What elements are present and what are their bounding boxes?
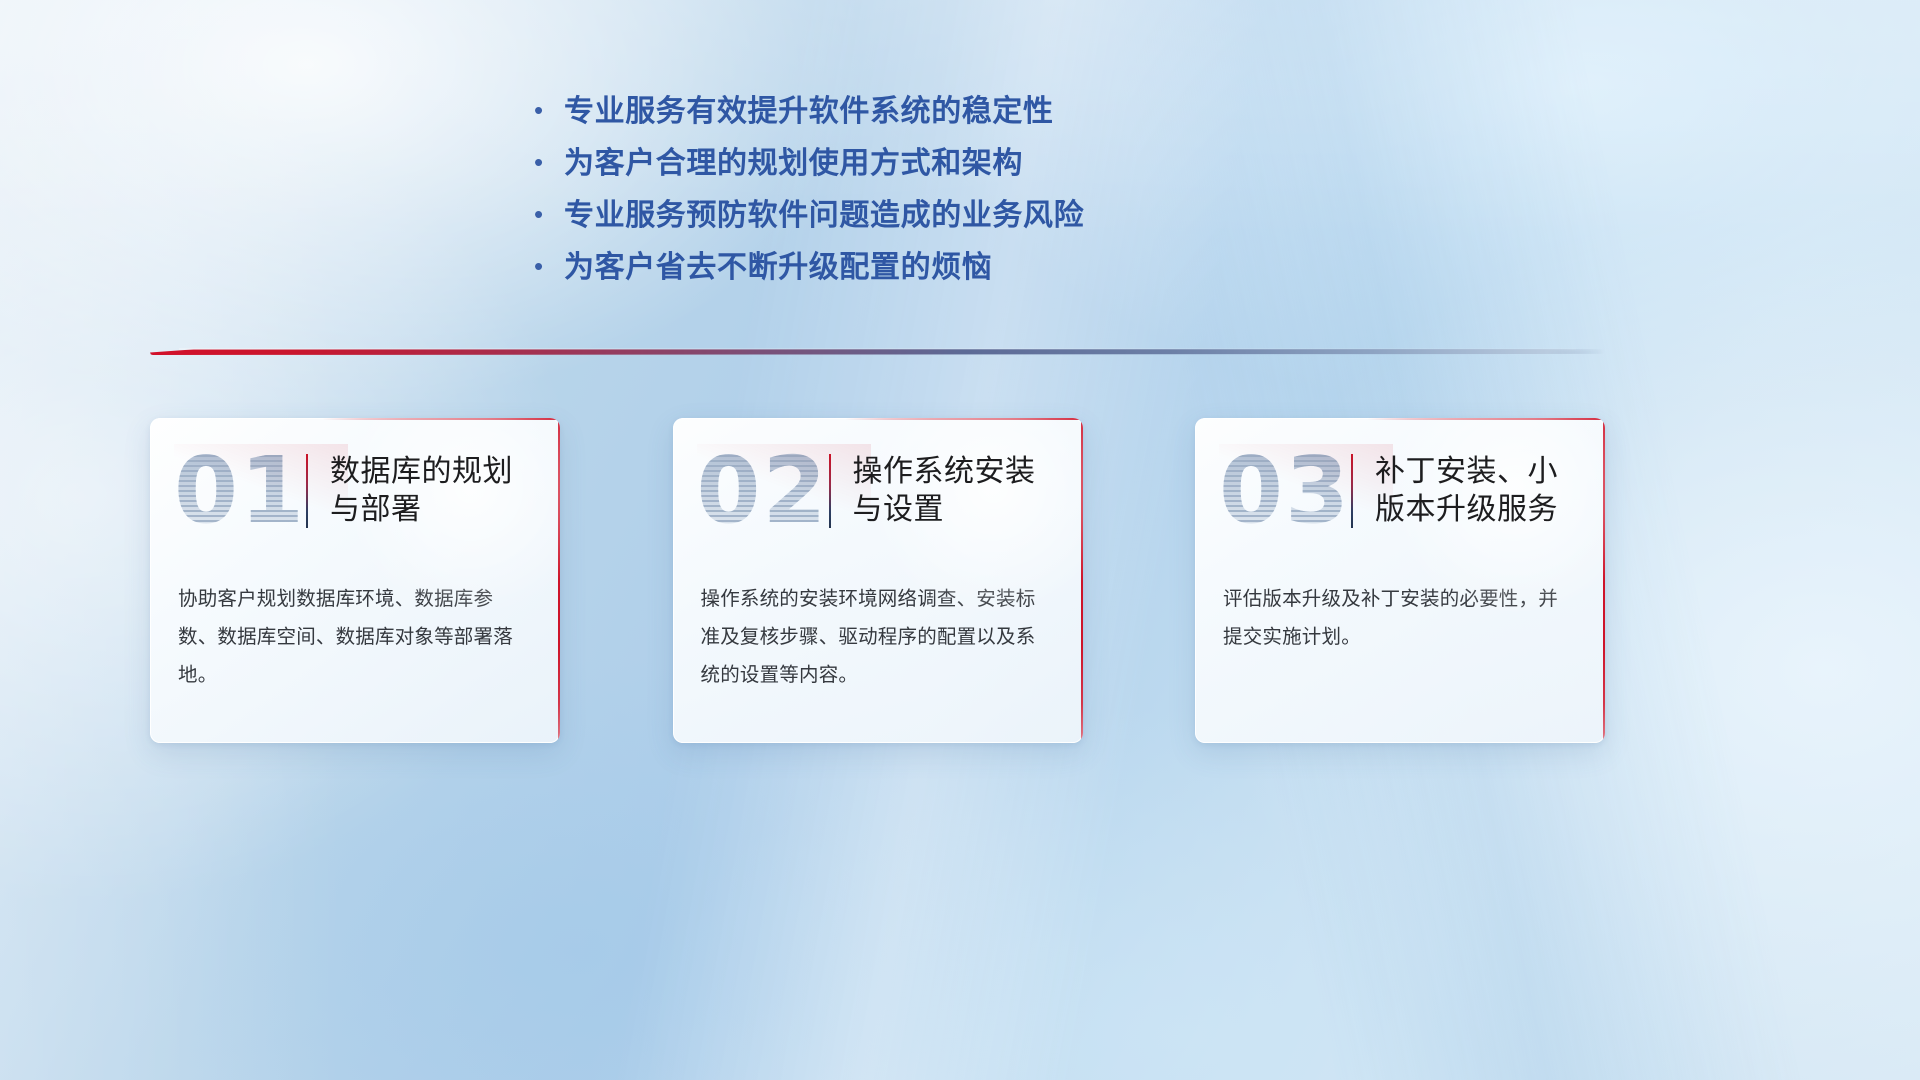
card-title: 操作系统安装与设置 [853, 453, 1057, 529]
bullet-dot-icon: • [534, 253, 564, 279]
card-divider-rule [1351, 454, 1353, 528]
service-card[interactable]: 02 操作系统安装与设置 操作系统的安装环境网络调查、安装标准及复核步骤、驱动程… [673, 418, 1083, 743]
list-item: • 专业服务有效提升软件系统的稳定性 [534, 86, 1434, 138]
card-body-text: 评估版本升级及补丁安装的必要性，并提交实施计划。 [1195, 536, 1605, 656]
card-number: 03 [1219, 445, 1351, 537]
card-header: 02 操作系统安装与设置 [673, 418, 1083, 536]
bullet-text: 为客户省去不断升级配置的烦恼 [564, 242, 992, 286]
card-number: 02 [697, 445, 829, 537]
card-divider-rule [829, 454, 831, 528]
bullet-dot-icon: • [534, 97, 564, 123]
card-body-text: 操作系统的安装环境网络调查、安装标准及复核步骤、驱动程序的配置以及系统的设置等内… [673, 536, 1083, 694]
card-header: 01 数据库的规划与部署 [150, 418, 560, 536]
bullet-dot-icon: • [534, 149, 564, 175]
slide-canvas: • 专业服务有效提升软件系统的稳定性 • 为客户合理的规划使用方式和架构 • 专… [0, 0, 1920, 1080]
service-cards-row: 01 数据库的规划与部署 协助客户规划数据库环境、数据库参数、数据库空间、数据库… [150, 418, 1605, 743]
bullet-text: 专业服务预防软件问题造成的业务风险 [564, 190, 1084, 234]
list-item: • 专业服务预防软件问题造成的业务风险 [534, 190, 1434, 242]
card-divider-rule [306, 454, 308, 528]
service-card[interactable]: 03 补丁安装、小版本升级服务 评估版本升级及补丁安装的必要性，并提交实施计划。 [1195, 418, 1605, 743]
divider-highlight [179, 348, 1576, 350]
card-title: 数据库的规划与部署 [330, 453, 534, 529]
list-item: • 为客户省去不断升级配置的烦恼 [534, 242, 1434, 294]
service-card[interactable]: 01 数据库的规划与部署 协助客户规划数据库环境、数据库参数、数据库空间、数据库… [150, 418, 560, 743]
card-title: 补丁安装、小版本升级服务 [1375, 453, 1579, 529]
bullet-text: 为客户合理的规划使用方式和架构 [564, 138, 1023, 182]
bullet-text: 专业服务有效提升软件系统的稳定性 [564, 86, 1054, 130]
benefits-bullet-list: • 专业服务有效提升软件系统的稳定性 • 为客户合理的规划使用方式和架构 • 专… [534, 86, 1434, 294]
bullet-dot-icon: • [534, 201, 564, 227]
card-body-text: 协助客户规划数据库环境、数据库参数、数据库空间、数据库对象等部署落地。 [150, 536, 560, 694]
card-header: 03 补丁安装、小版本升级服务 [1195, 418, 1605, 536]
section-divider [150, 345, 1605, 363]
card-number: 01 [174, 445, 306, 537]
list-item: • 为客户合理的规划使用方式和架构 [534, 138, 1434, 190]
